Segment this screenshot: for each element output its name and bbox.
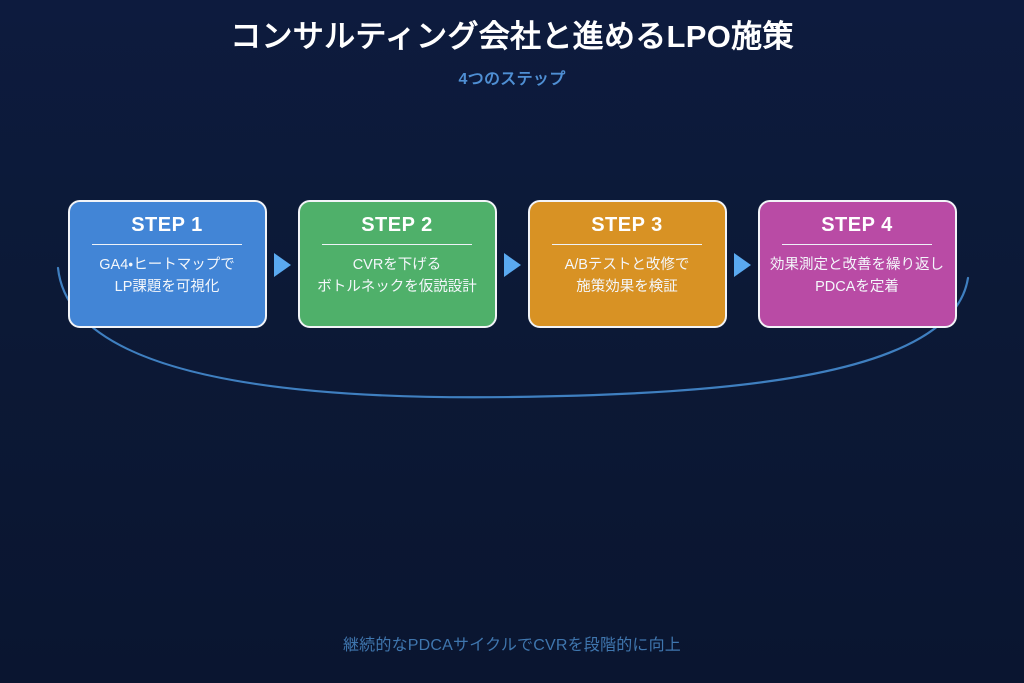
step-label-2: STEP 2 (361, 214, 433, 236)
page-header: コンサルティング会社と進めるLPO施策 4つのステップ (0, 18, 1024, 89)
step-desc-line2-4: PDCAを定着 (815, 276, 899, 298)
step-desc-line1-1: GA4・ヒートマップで (99, 254, 234, 276)
step-desc-line2-3: 施策効果を検証 (576, 276, 678, 298)
connector-arrow-2 (497, 200, 528, 330)
step-desc-line2-2: ボトルネックを仮説設計 (317, 276, 477, 298)
step-box-1[interactable]: STEP 1 GA4・ヒートマップで LP課題を可視化 (68, 200, 267, 328)
connector-arrow-3 (727, 200, 758, 330)
step-box-3[interactable]: STEP 3 A/Bテストと改修で 施策効果を検証 (528, 200, 727, 328)
step-desc-line2-1: LP課題を可視化 (115, 276, 220, 298)
page-subtitle: 4つのステップ (0, 65, 1024, 89)
step-divider-4 (782, 244, 932, 245)
steps-row: STEP 1 GA4・ヒートマップで LP課題を可視化 STEP 2 CVRを下… (0, 200, 1024, 330)
step-divider-2 (322, 244, 472, 245)
pdca-loop-curve (0, 0, 1024, 683)
step-box-2[interactable]: STEP 2 CVRを下げる ボトルネックを仮説設計 (298, 200, 497, 328)
step-desc-line1-3: A/Bテストと改修で (565, 254, 690, 276)
play-triangle-right-icon (274, 253, 291, 277)
step-divider-1 (92, 244, 242, 245)
play-triangle-right-icon (734, 253, 751, 277)
step-label-4: STEP 4 (821, 214, 893, 236)
step-desc-line1-2: CVRを下げる (353, 254, 442, 276)
step-divider-3 (552, 244, 702, 245)
play-triangle-right-icon (504, 253, 521, 277)
step-box-4[interactable]: STEP 4 効果測定と改善を繰り返し PDCAを定着 (758, 200, 957, 328)
step-label-1: STEP 1 (131, 214, 203, 236)
page-title: コンサルティング会社と進めるLPO施策 (0, 18, 1024, 57)
step-desc-line1-4: 効果測定と改善を繰り返し (770, 254, 944, 276)
connector-arrow-1 (267, 200, 298, 330)
step-label-3: STEP 3 (591, 214, 663, 236)
footer-caption: 継続的なPDCAサイクルでCVRを段階的に向上 (0, 631, 1024, 655)
